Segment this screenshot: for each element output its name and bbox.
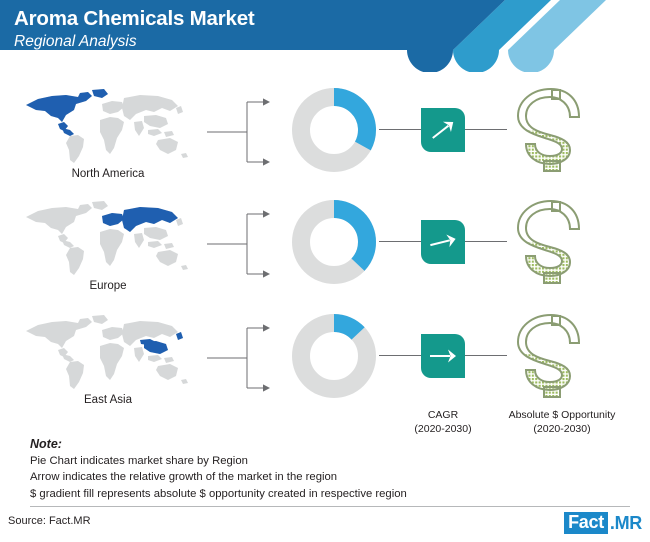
- bracket-arrowhead: [263, 210, 270, 217]
- region-row-east-asia: East Asia: [0, 310, 650, 418]
- header-text-block: Aroma Chemicals Market Regional Analysis: [14, 8, 255, 52]
- dollar-container: [508, 84, 596, 176]
- market-share-donut: [288, 84, 380, 176]
- connector-line-donut-to-cagr: [379, 241, 421, 242]
- opportunity-caption: Absolute $ Opportunity (2020-2030): [494, 408, 630, 436]
- growth-arrow-icon: [421, 334, 465, 378]
- bracket-container: [205, 200, 283, 288]
- page-subtitle: Regional Analysis: [14, 33, 255, 52]
- footer-divider: [30, 506, 630, 507]
- dollar-opportunity-icon: [508, 84, 596, 176]
- cagr-badge: [421, 334, 465, 378]
- market-share-donut: [288, 196, 380, 288]
- map-container: [18, 84, 198, 168]
- dollar-opportunity-icon: [508, 310, 596, 402]
- opportunity-caption-period: (2020-2030): [494, 422, 630, 436]
- bracket-container: [205, 88, 283, 176]
- world-map: [18, 84, 198, 168]
- region-label: Europe: [0, 280, 216, 292]
- connector-line-cagr-to-dollar: [465, 355, 507, 356]
- map-container: [18, 196, 198, 280]
- factmr-logo: Fact .MR: [564, 512, 642, 534]
- page-header: Aroma Chemicals Market Regional Analysis: [0, 0, 650, 72]
- cagr-caption-label: CAGR: [399, 408, 487, 422]
- connector-line-donut-to-cagr: [379, 355, 421, 356]
- cagr-caption-period: (2020-2030): [399, 422, 487, 436]
- bracket-connector: [205, 314, 283, 402]
- donut-container: [288, 196, 380, 288]
- connector-line-donut-to-cagr: [379, 129, 421, 130]
- donut-container: [288, 310, 380, 402]
- dollar-opportunity-icon: [508, 196, 596, 288]
- map-highlight-north-america: [26, 89, 108, 136]
- connector-line-cagr-to-dollar: [465, 129, 507, 130]
- map-highlight-europe: [102, 207, 178, 232]
- note-block: Note: Pie Chart indicates market share b…: [30, 437, 630, 502]
- map-container: [18, 310, 198, 394]
- region-row-north-america: North America: [0, 84, 650, 192]
- cagr-badge: [421, 220, 465, 264]
- cagr-badge: [421, 108, 465, 152]
- bracket-arrowhead: [263, 98, 270, 105]
- note-line: Arrow indicates the relative growth of t…: [30, 469, 630, 485]
- donut-container: [288, 84, 380, 176]
- dollar-container: [508, 310, 596, 402]
- dollar-container: [508, 196, 596, 288]
- bracket-arrowhead: [263, 324, 270, 331]
- source-text: Source: Fact.MR: [8, 515, 91, 527]
- bracket-arrowhead: [263, 158, 270, 165]
- bracket-arrowhead: [263, 270, 270, 277]
- market-share-donut: [288, 310, 380, 402]
- region-row-europe: Europe: [0, 196, 650, 304]
- connector-line-cagr-to-dollar: [465, 241, 507, 242]
- bracket-connector: [205, 200, 283, 288]
- note-title: Note:: [30, 437, 630, 451]
- region-label: North America: [0, 168, 216, 180]
- page-title: Aroma Chemicals Market: [14, 8, 255, 31]
- world-map: [18, 310, 198, 394]
- opportunity-caption-label: Absolute $ Opportunity: [494, 408, 630, 422]
- bracket-container: [205, 314, 283, 402]
- logo-fact-text: Fact: [564, 512, 608, 534]
- note-line: Pie Chart indicates market share by Regi…: [30, 453, 630, 469]
- region-label: East Asia: [0, 394, 216, 406]
- cagr-caption: CAGR (2020-2030): [399, 408, 487, 436]
- logo-mr-text: .MR: [610, 513, 642, 534]
- bracket-arrowhead: [263, 384, 270, 391]
- world-map: [18, 196, 198, 280]
- growth-arrow-icon: [421, 220, 465, 264]
- note-line: $ gradient fill represents absolute $ op…: [30, 486, 630, 502]
- growth-arrow-icon: [421, 108, 465, 152]
- bracket-connector: [205, 88, 283, 176]
